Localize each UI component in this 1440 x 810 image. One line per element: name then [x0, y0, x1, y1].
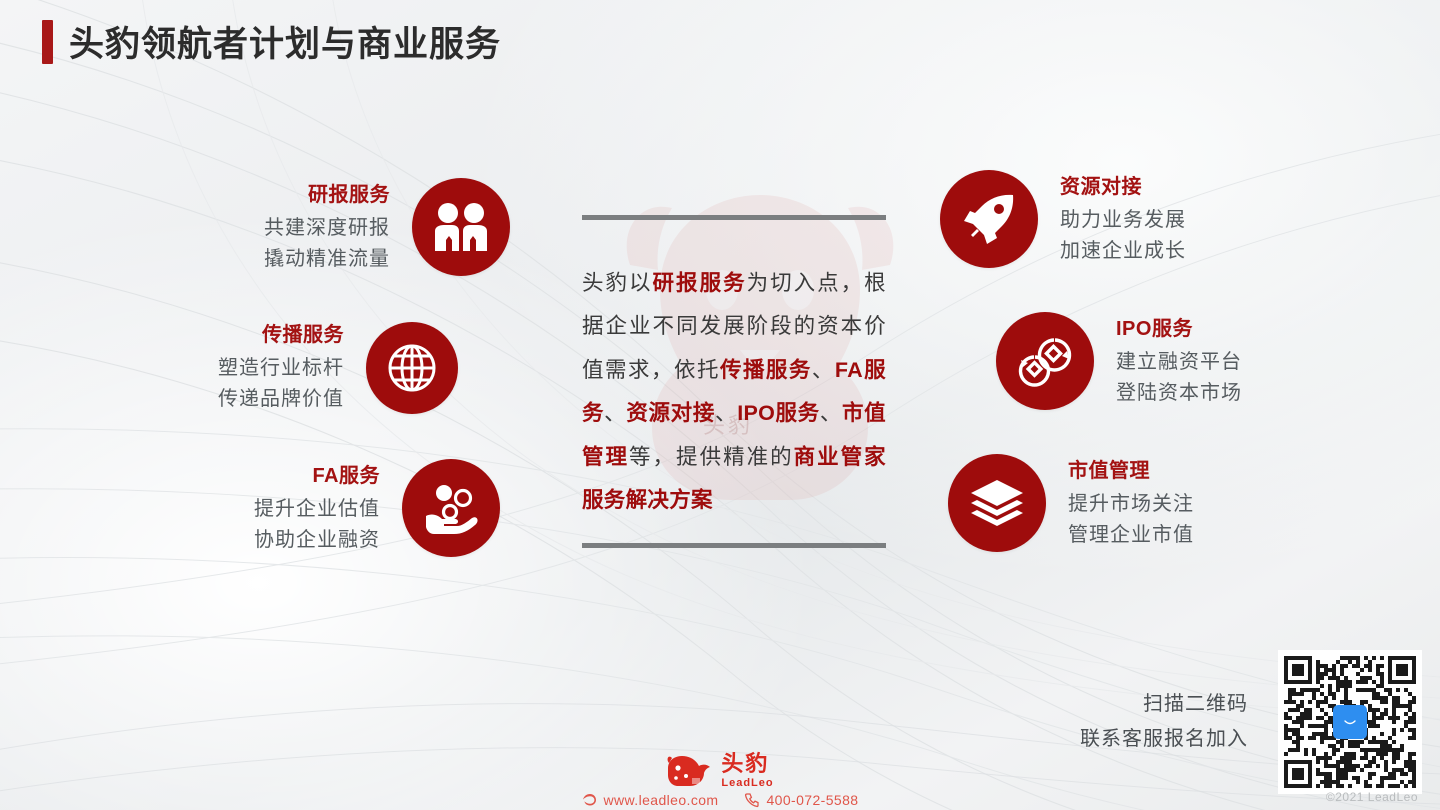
chat-bubble-icon [1333, 705, 1367, 739]
service-heading: 市值管理 [1068, 456, 1194, 486]
divider-bottom [582, 543, 886, 548]
layers-icon [948, 454, 1046, 552]
footer-phone-text: 400-072-5588 [766, 792, 858, 808]
title-accent-bar [42, 20, 53, 64]
page-title: 头豹领航者计划与商业服务 [42, 16, 501, 67]
center-description-text: 头豹以研报服务为切入点，根据企业不同发展阶段的资本价值需求，依托传播服务、FA服… [582, 262, 886, 523]
left-service-column: 研报服务 共建深度研报 撬动精准流量 传播服务 塑造行业标杆 传递品牌价值 [120, 178, 510, 557]
footer-website[interactable]: www.leadleo.com [582, 792, 719, 808]
footer-phone[interactable]: 400-072-5588 [744, 792, 858, 808]
service-heading: FA服务 [254, 461, 380, 491]
brand-logo: 头豹 LeadLeo [666, 753, 773, 789]
divider-top [582, 215, 886, 220]
qr-label-line-2: 联系客服报名加入 [1080, 722, 1248, 757]
service-line-2: 撬动精准流量 [264, 244, 390, 275]
coins-icon [996, 312, 1094, 410]
service-line-2: 加速企业成长 [1060, 236, 1186, 267]
qr-label: 扫描二维码 联系客服报名加入 [1080, 687, 1248, 757]
service-heading: 传播服务 [218, 320, 344, 350]
center-text-highlight: IPO服务 [737, 401, 820, 425]
hand-coins-icon [402, 459, 500, 557]
service-line-1: 提升企业估值 [254, 494, 380, 525]
service-text: 市值管理 提升市场关注 管理企业市值 [1046, 456, 1194, 551]
qr-label-line-1: 扫描二维码 [1080, 687, 1248, 722]
service-heading: 研报服务 [264, 180, 390, 210]
center-text-plain: 头豹以 [582, 271, 653, 295]
center-text-highlight: 传播服务 [720, 358, 812, 382]
service-line-2: 协助企业融资 [254, 525, 380, 556]
service-item-fa[interactable]: FA服务 提升企业估值 协助企业融资 [120, 459, 510, 557]
service-line-1: 建立融资平台 [1116, 347, 1242, 378]
center-text-plain: 、 [812, 358, 835, 382]
service-line-1: 共建深度研报 [264, 213, 390, 244]
service-line-2: 管理企业市值 [1068, 520, 1194, 551]
internet-explorer-icon [582, 792, 598, 808]
service-item-market-value[interactable]: 市值管理 提升市场关注 管理企业市值 [940, 454, 1340, 552]
rocket-icon [940, 170, 1038, 268]
globe-icon [366, 322, 458, 414]
service-line-1: 提升市场关注 [1068, 489, 1194, 520]
service-line-1: 塑造行业标杆 [218, 353, 344, 384]
service-line-1: 助力业务发展 [1060, 205, 1186, 236]
service-line-2: 登陆资本市场 [1116, 378, 1242, 409]
service-item-resource[interactable]: 资源对接 助力业务发展 加速企业成长 [940, 170, 1340, 268]
leopard-logo-icon [666, 754, 712, 788]
service-text: FA服务 提升企业估值 协助企业融资 [254, 461, 402, 556]
service-text: IPO服务 建立融资平台 登陆资本市场 [1094, 314, 1242, 409]
center-text-plain: 、 [604, 401, 626, 425]
brand-name-en: LeadLeo [721, 778, 773, 789]
brand-name: 头豹 LeadLeo [721, 753, 773, 789]
title-text: 头豹领航者计划与商业服务 [69, 16, 501, 67]
two-people-icon [412, 178, 510, 276]
phone-icon [744, 792, 760, 808]
center-description-panel: 头豹以研报服务为切入点，根据企业不同发展阶段的资本价值需求，依托传播服务、FA服… [582, 215, 886, 523]
service-text: 资源对接 助力业务发展 加速企业成长 [1038, 172, 1186, 267]
right-service-column: 资源对接 助力业务发展 加速企业成长 IPO服务 建立融资平台 登陆资本市 [940, 170, 1340, 552]
slide: 头豹领航者计划与商业服务 头豹 研报服务 共建深度研报 撬动精准流量 [0, 0, 1440, 810]
footer: 头豹 LeadLeo www.leadleo.com 400-072-5588 [0, 753, 1440, 808]
footer-contact: www.leadleo.com 400-072-5588 [582, 792, 859, 808]
center-text-highlight: 研报服务 [653, 271, 747, 295]
footer-website-text: www.leadleo.com [604, 792, 719, 808]
service-item-ipo[interactable]: IPO服务 建立融资平台 登陆资本市场 [940, 312, 1340, 410]
service-line-2: 传递品牌价值 [218, 384, 344, 415]
center-text-plain: 、 [820, 401, 842, 425]
service-heading: IPO服务 [1116, 314, 1242, 344]
service-text: 研报服务 共建深度研报 撬动精准流量 [264, 180, 412, 275]
brand-name-cn: 头豹 [721, 753, 773, 775]
service-item-communication[interactable]: 传播服务 塑造行业标杆 传递品牌价值 [120, 320, 510, 415]
center-text-plain: 等，提供精准的 [629, 445, 794, 469]
center-text-highlight: 资源对接 [626, 401, 715, 425]
service-text: 传播服务 塑造行业标杆 传递品牌价值 [218, 320, 366, 415]
center-text-plain: 、 [715, 401, 737, 425]
service-item-research[interactable]: 研报服务 共建深度研报 撬动精准流量 [120, 178, 510, 276]
service-heading: 资源对接 [1060, 172, 1186, 202]
